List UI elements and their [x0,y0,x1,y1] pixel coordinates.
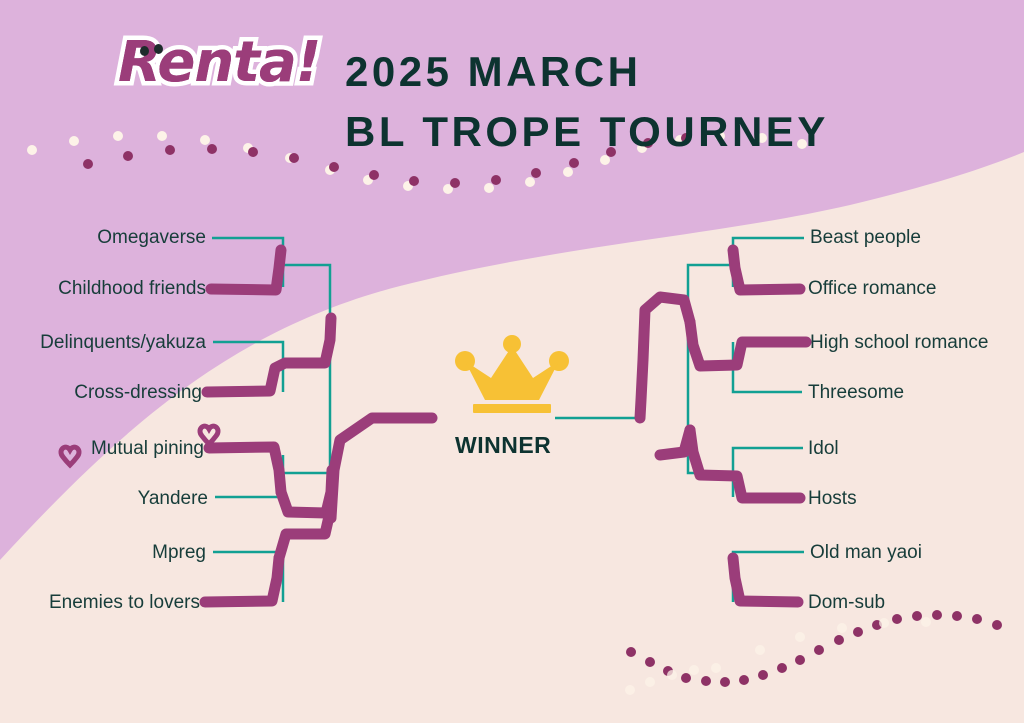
bracket-label-dom-sub[interactable]: Dom-sub [808,593,885,612]
dot-trail-cream-bottom [625,617,931,695]
bracket-label-cross-dressing[interactable]: Cross-dressing [0,383,202,402]
bracket-label-mutual-pining[interactable]: Mutual pining [0,439,204,458]
poster-canvas: Renta! Renta! 2025 MARCH BL TROPE TOURNE… [0,0,1024,723]
bracket-label-office-romance[interactable]: Office romance [808,279,936,298]
bracket-label-yandere[interactable]: Yandere [0,489,208,508]
crown-icon [455,334,569,414]
bracket-label-old-man-yaoi[interactable]: Old man yaoi [810,543,922,562]
title-line-2: BL TROPE TOURNEY [345,102,829,162]
winner-label: WINNER [455,432,551,459]
bracket-label-threesome[interactable]: Threesome [808,383,904,402]
renta-logo: Renta! [118,30,320,95]
dot-trail-purple-bottom [626,610,1002,687]
bracket-label-high-school-romance[interactable]: High school romance [810,333,988,352]
title-line-1: 2025 MARCH [345,48,641,95]
bracket-label-delinquents-yakuza[interactable]: Delinquents/yakuza [0,333,206,352]
page-title: 2025 MARCH BL TROPE TOURNEY [345,42,829,161]
bracket-label-childhood-friends[interactable]: Childhood friends [0,279,206,298]
bracket-label-mpreg[interactable]: Mpreg [0,543,206,562]
bracket-label-enemies-to-lovers[interactable]: Enemies to lovers [0,593,200,612]
bracket-label-omegaverse[interactable]: Omegaverse [0,228,206,247]
bracket-label-hosts[interactable]: Hosts [808,489,857,508]
bracket-label-idol[interactable]: Idol [808,439,839,458]
bracket-label-beast-people[interactable]: Beast people [810,228,921,247]
